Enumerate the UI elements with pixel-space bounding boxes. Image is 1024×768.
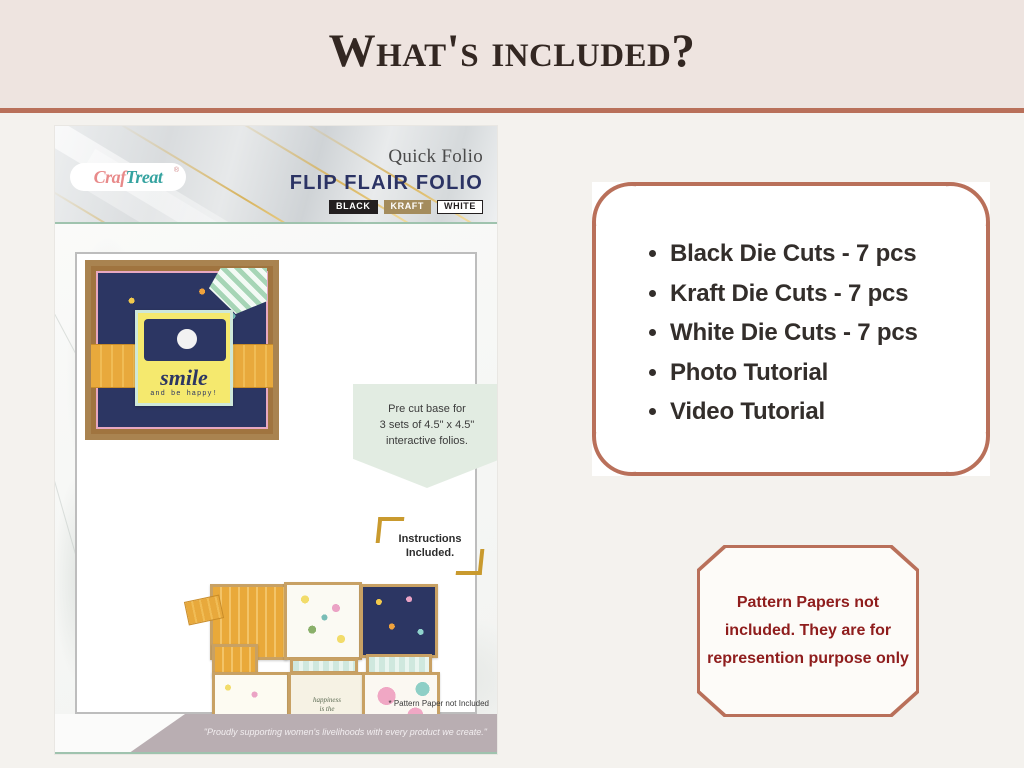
instructions-callout-text: Instructions Included. [382, 522, 478, 570]
folio-smile-text: smile [138, 365, 230, 391]
folio-happy-text: and be happy! [138, 390, 230, 398]
registered-trademark-icon: ® [174, 167, 179, 174]
slide-canvas: What's included? CrafTreat ® Quick Folio… [0, 0, 1024, 768]
product-name-label: FLIP FLAIR FOLIO [290, 172, 483, 195]
camera-icon [144, 319, 226, 361]
color-badge-row: BLACK KRAFT WHITE [329, 200, 483, 214]
brand-logo: CrafTreat ® [70, 163, 186, 191]
included-box-edge-top [632, 182, 950, 186]
instructions-callout: Instructions Included. [382, 522, 478, 570]
included-box-edge-bottom [632, 472, 950, 476]
product-card: CrafTreat ® Quick Folio FLIP FLAIR FOLIO… [55, 126, 497, 754]
product-banner: CrafTreat ® Quick Folio FLIP FLAIR FOLIO… [55, 126, 497, 224]
folio-project-photo: smile and be happy! [85, 260, 279, 440]
paper-swatch [284, 582, 362, 660]
list-item: Video Tutorial [670, 392, 918, 432]
included-box-corner-bottom-right [946, 432, 990, 476]
list-item: White Die Cuts - 7 pcs [670, 313, 918, 353]
badge-kraft: KRAFT [384, 200, 432, 214]
card-footer: "Proudly supporting women's livelihoods … [55, 714, 497, 754]
list-item: Photo Tutorial [670, 353, 918, 393]
pattern-paper-warning-box: Pattern Papers not included. They are fo… [697, 545, 919, 717]
card-footer-text: "Proudly supporting women's livelihoods … [204, 727, 487, 737]
warning-text: Pattern Papers not included. They are fo… [700, 589, 916, 673]
page-title: What's included? [0, 24, 1024, 78]
included-items-box: Black Die Cuts - 7 pcs Kraft Die Cuts - … [592, 182, 990, 476]
product-line-label: Quick Folio [388, 146, 483, 168]
brand-name-part2: Treat [126, 167, 163, 187]
included-box-edge-right [986, 222, 990, 436]
brand-name-part1: Craf [94, 167, 126, 187]
pennant-callout-text: Pre cut base for 3 sets of 4.5" x 4.5" i… [380, 402, 475, 450]
paper-swatch [360, 584, 438, 658]
included-box-edge-left [592, 222, 596, 436]
included-box-corner-top-left [592, 182, 636, 226]
header-divider-rule [0, 108, 1024, 113]
card-bottom-accent-line [55, 752, 497, 754]
banner-accent-line [55, 222, 497, 224]
pattern-paper-note: * Pattern Paper not Included [388, 699, 489, 708]
list-item: Black Die Cuts - 7 pcs [670, 234, 918, 274]
included-box-corner-bottom-left [592, 432, 636, 476]
included-box-corner-top-right [946, 182, 990, 226]
included-items-list: Black Die Cuts - 7 pcs Kraft Die Cuts - … [646, 234, 918, 432]
footer-diagonal-cut [55, 714, 185, 754]
folio-smile-tag: smile and be happy! [135, 310, 233, 406]
warning-hexagon-fill: Pattern Papers not included. They are fo… [700, 548, 916, 714]
brand-logo-text: CrafTreat [94, 167, 163, 188]
list-item: Kraft Die Cuts - 7 pcs [670, 274, 918, 314]
badge-white: WHITE [437, 200, 483, 214]
badge-black: BLACK [329, 200, 378, 214]
